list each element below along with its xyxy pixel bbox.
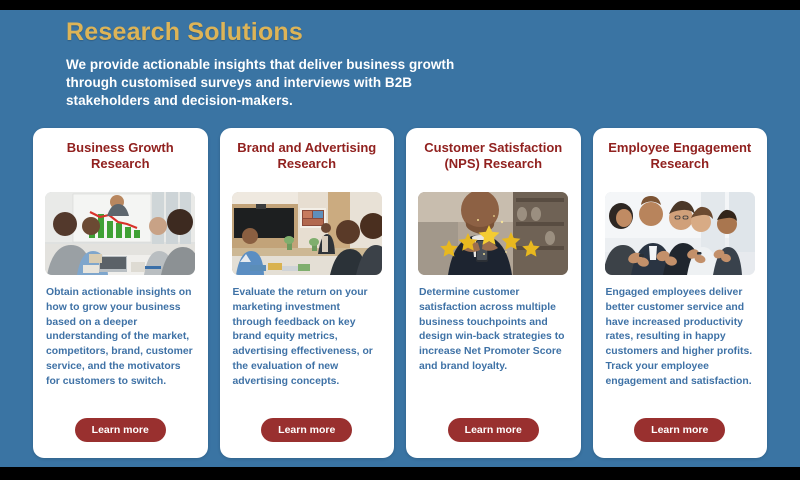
card-body: Evaluate the return on your marketing in…: [230, 286, 385, 414]
card-customer-satisfaction-nps-research[interactable]: Customer Satisfaction (NPS) Research: [406, 128, 581, 458]
card-title: Employee Engagement Research: [603, 140, 758, 190]
card-employee-engagement-research[interactable]: Employee Engagement Research: [593, 128, 768, 458]
card-body: Engaged employees deliver better custome…: [603, 286, 758, 414]
employees-applauding-photo: [605, 192, 755, 275]
learn-more-button[interactable]: Learn more: [261, 418, 352, 443]
card-body: Determine customer satisfaction across m…: [416, 286, 571, 414]
header: Research Solutions We provide actionable…: [66, 18, 486, 110]
learn-more-button[interactable]: Learn more: [448, 418, 539, 443]
card-footer: Learn more: [43, 414, 198, 459]
page-title: Research Solutions: [66, 18, 486, 47]
card-body: Obtain actionable insights on how to gro…: [43, 286, 198, 414]
learn-more-button[interactable]: Learn more: [634, 418, 725, 443]
card-title: Business Growth Research: [43, 140, 198, 190]
slide-stage: Research Solutions We provide actionable…: [0, 10, 800, 467]
card-footer: Learn more: [230, 414, 385, 459]
card-footer: Learn more: [603, 414, 758, 459]
card-footer: Learn more: [416, 414, 571, 459]
research-solutions-card-row: Business Growth Research: [33, 128, 767, 458]
card-business-growth-research[interactable]: Business Growth Research: [33, 128, 208, 458]
page-subtitle: We provide actionable insights that deli…: [66, 56, 486, 110]
card-brand-and-advertising-research[interactable]: Brand and Advertising Research: [220, 128, 395, 458]
conference-room-presentation-photo: [232, 192, 382, 275]
card-title: Customer Satisfaction (NPS) Research: [416, 140, 571, 190]
slide-screen: Research Solutions We provide actionable…: [0, 0, 800, 480]
five-star-rating-smartphone-photo: [418, 192, 568, 275]
business-meeting-bar-chart-photo: [45, 192, 195, 275]
card-title: Brand and Advertising Research: [230, 140, 385, 190]
learn-more-button[interactable]: Learn more: [75, 418, 166, 443]
